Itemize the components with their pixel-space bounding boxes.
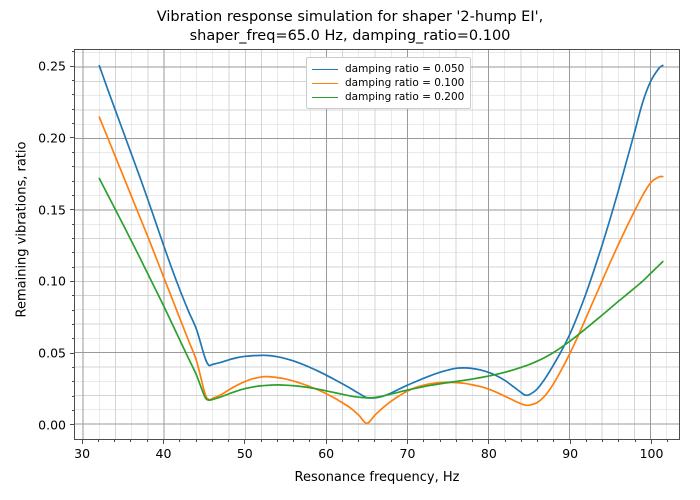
y-minor-tick-mark [72, 367, 74, 368]
y-tick-mark [70, 209, 74, 210]
x-minor-tick-mark [586, 440, 587, 442]
x-minor-tick-mark [423, 440, 424, 442]
y-minor-tick-mark [72, 238, 74, 239]
legend-label: damping ratio = 0.200 [345, 91, 464, 103]
x-minor-tick-mark [667, 440, 668, 442]
x-tick-label: 60 [318, 446, 334, 461]
x-minor-tick-mark [537, 440, 538, 442]
x-tick-mark [82, 440, 83, 444]
series-line-2 [99, 117, 662, 423]
y-axis-label: Remaining vibrations, ratio [15, 120, 30, 340]
legend-label: damping ratio = 0.050 [345, 63, 464, 75]
x-minor-tick-mark [261, 440, 262, 442]
x-minor-tick-mark [374, 440, 375, 442]
y-minor-tick-mark [72, 80, 74, 81]
y-minor-tick-mark [72, 94, 74, 95]
x-tick-mark [407, 440, 408, 444]
x-minor-tick-mark [98, 440, 99, 442]
y-minor-tick-mark [72, 109, 74, 110]
y-minor-tick-mark [72, 195, 74, 196]
y-tick-mark [70, 66, 74, 67]
x-tick-mark [244, 440, 245, 444]
legend-item: damping ratio = 0.050 [312, 62, 464, 76]
x-minor-tick-mark [618, 440, 619, 442]
x-minor-tick-mark [309, 440, 310, 442]
x-minor-tick-mark [342, 440, 343, 442]
x-tick-label: 70 [400, 446, 416, 461]
y-minor-tick-mark [72, 181, 74, 182]
y-minor-tick-mark [72, 224, 74, 225]
x-axis-label: Resonance frequency, Hz [74, 470, 680, 485]
x-minor-tick-mark [391, 440, 392, 442]
y-minor-tick-mark [72, 252, 74, 253]
x-minor-tick-mark [440, 440, 441, 442]
y-tick-label: 0.05 [20, 346, 66, 361]
y-minor-tick-mark [72, 381, 74, 382]
legend-label: damping ratio = 0.100 [345, 77, 464, 89]
x-minor-tick-mark [472, 440, 473, 442]
x-minor-tick-mark [228, 440, 229, 442]
x-minor-tick-mark [602, 440, 603, 442]
chart-figure: Vibration response simulation for shaper… [0, 0, 700, 500]
x-tick-mark [326, 440, 327, 444]
y-minor-tick-mark [72, 267, 74, 268]
x-minor-tick-mark [635, 440, 636, 442]
x-minor-tick-mark [277, 440, 278, 442]
y-minor-tick-mark [72, 396, 74, 397]
x-tick-mark [163, 440, 164, 444]
page-title: Vibration response simulation for shaper… [0, 8, 700, 46]
y-minor-tick-mark [72, 410, 74, 411]
y-tick-mark [70, 424, 74, 425]
legend-item: damping ratio = 0.100 [312, 76, 464, 90]
legend-color-swatch [312, 97, 338, 98]
x-minor-tick-mark [456, 440, 457, 442]
y-tick-label: 0.25 [20, 59, 66, 74]
x-tick-label: 50 [237, 446, 253, 461]
y-minor-tick-mark [72, 295, 74, 296]
x-minor-tick-mark [179, 440, 180, 442]
x-tick-mark [488, 440, 489, 444]
x-tick-mark [570, 440, 571, 444]
y-minor-tick-mark [72, 310, 74, 311]
y-minor-tick-mark [72, 338, 74, 339]
x-minor-tick-mark [147, 440, 148, 442]
x-tick-mark [651, 440, 652, 444]
x-minor-tick-mark [114, 440, 115, 442]
legend-color-swatch [312, 83, 338, 84]
x-minor-tick-mark [130, 440, 131, 442]
x-tick-label: 30 [74, 446, 90, 461]
legend-color-swatch [312, 69, 338, 70]
x-tick-label: 40 [156, 446, 172, 461]
y-tick-mark [70, 137, 74, 138]
x-minor-tick-mark [505, 440, 506, 442]
legend: damping ratio = 0.050damping ratio = 0.1… [306, 57, 471, 109]
y-minor-tick-mark [72, 324, 74, 325]
x-minor-tick-mark [196, 440, 197, 442]
x-minor-tick-mark [212, 440, 213, 442]
y-tick-label: 0.00 [20, 417, 66, 432]
x-minor-tick-mark [358, 440, 359, 442]
x-minor-tick-mark [553, 440, 554, 442]
y-tick-mark [70, 353, 74, 354]
legend-item: damping ratio = 0.200 [312, 90, 464, 104]
y-minor-tick-mark [72, 123, 74, 124]
y-minor-tick-mark [72, 51, 74, 52]
x-tick-label: 80 [481, 446, 497, 461]
y-minor-tick-mark [72, 152, 74, 153]
x-minor-tick-mark [521, 440, 522, 442]
x-tick-label: 90 [562, 446, 578, 461]
y-minor-tick-mark [72, 166, 74, 167]
y-tick-mark [70, 281, 74, 282]
x-minor-tick-mark [293, 440, 294, 442]
series-line-3 [99, 178, 662, 400]
x-tick-label: 100 [640, 446, 664, 461]
